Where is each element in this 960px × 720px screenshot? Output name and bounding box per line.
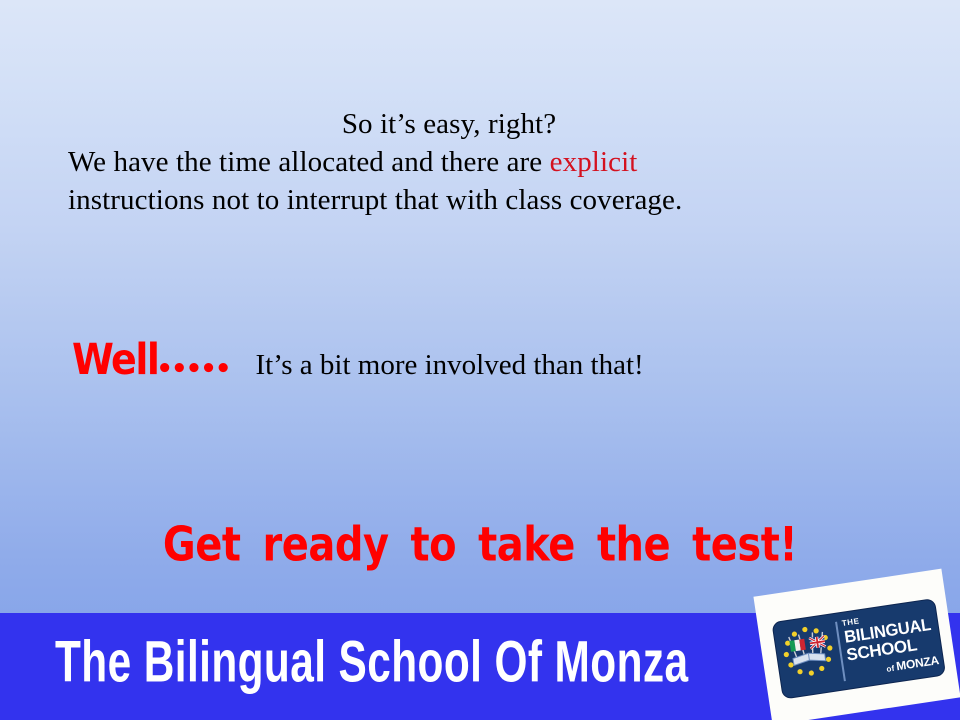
cta-word-0: Get <box>163 518 241 572</box>
emblem-svg <box>773 616 845 696</box>
intro-line-3: instructions not to interrupt that with … <box>68 181 892 219</box>
well-ellipsis-dots: ••••• <box>156 354 229 384</box>
intro-line-2-text: We have the time allocated and there are <box>68 146 550 178</box>
call-to-action-line: Getreadytotakethetest! <box>0 518 960 572</box>
logo-plaque: THE BILINGUAL SCHOOL ofMONZA <box>771 598 946 700</box>
cta-word-2: to <box>411 518 457 572</box>
cta-word-3: take <box>478 518 575 572</box>
cta-word-1: ready <box>262 518 388 572</box>
cta-word-5: test! <box>692 518 797 572</box>
intro-line-2: We have the time allocated and there are… <box>68 143 892 181</box>
logo-wordmark: THE BILINGUAL SCHOOL ofMONZA <box>841 606 944 681</box>
intro-line-1: So it’s easy, right? <box>68 105 892 143</box>
slide-canvas: So it’s easy, right? We have the time al… <box>0 0 960 720</box>
well-row: Well••••• It’s a bit more involved than … <box>72 340 644 384</box>
intro-paragraph: So it’s easy, right? We have the time al… <box>68 105 892 219</box>
intro-emphasis-explicit: explicit <box>550 146 638 178</box>
school-logo: THE BILINGUAL SCHOOL ofMONZA <box>753 569 960 720</box>
logo-of: of <box>886 664 895 674</box>
eu-flags-emblem-icon <box>773 616 845 696</box>
cta-word-4: the <box>597 518 670 572</box>
well-followup-text: It’s a bit more involved than that! <box>255 349 643 382</box>
well-marker-text: Well <box>72 335 158 384</box>
footer-school-name: The Bilingual School Of Monza <box>55 631 688 695</box>
